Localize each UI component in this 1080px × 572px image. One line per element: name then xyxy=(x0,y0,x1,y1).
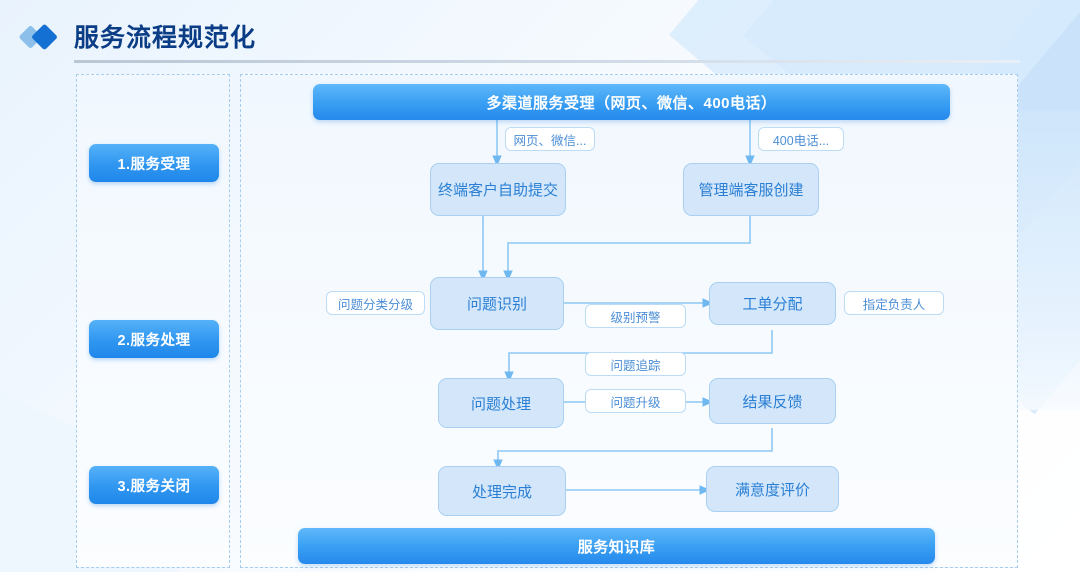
bottom-banner-knowledge-base[interactable]: 服务知识库 xyxy=(298,528,935,564)
edge-label-level-alert: 级别预警 xyxy=(585,304,686,328)
node-ticket-dispatch[interactable]: 工单分配 xyxy=(709,282,836,325)
node-self-submit[interactable]: 终端客户自助提交 xyxy=(430,163,566,216)
top-banner-multichannel-intake[interactable]: 多渠道服务受理（网页、微信、400电话） xyxy=(313,84,950,120)
edge-label-issue-track: 问题追踪 xyxy=(585,352,686,376)
node-issue-identify[interactable]: 问题识别 xyxy=(430,277,564,330)
edge-label-assign-owner: 指定负责人 xyxy=(844,291,944,315)
node-agent-create[interactable]: 管理端客服创建 xyxy=(683,163,819,216)
node-result-feedback[interactable]: 结果反馈 xyxy=(709,378,836,424)
node-satisfaction-rating[interactable]: 满意度评价 xyxy=(706,466,839,512)
edge-label-issue-escalate: 问题升级 xyxy=(585,389,686,413)
edge-label-phone-400: 400电话... xyxy=(758,127,844,151)
edge-label-issue-classify: 问题分类分级 xyxy=(326,291,425,315)
edge-label-web-wechat: 网页、微信... xyxy=(505,127,595,151)
node-issue-handle[interactable]: 问题处理 xyxy=(438,378,564,428)
slide-canvas: 服务流程规范化 1.服务受理 2.服务处理 3.服务关闭 xyxy=(0,0,1080,572)
node-handle-complete[interactable]: 处理完成 xyxy=(438,466,566,516)
